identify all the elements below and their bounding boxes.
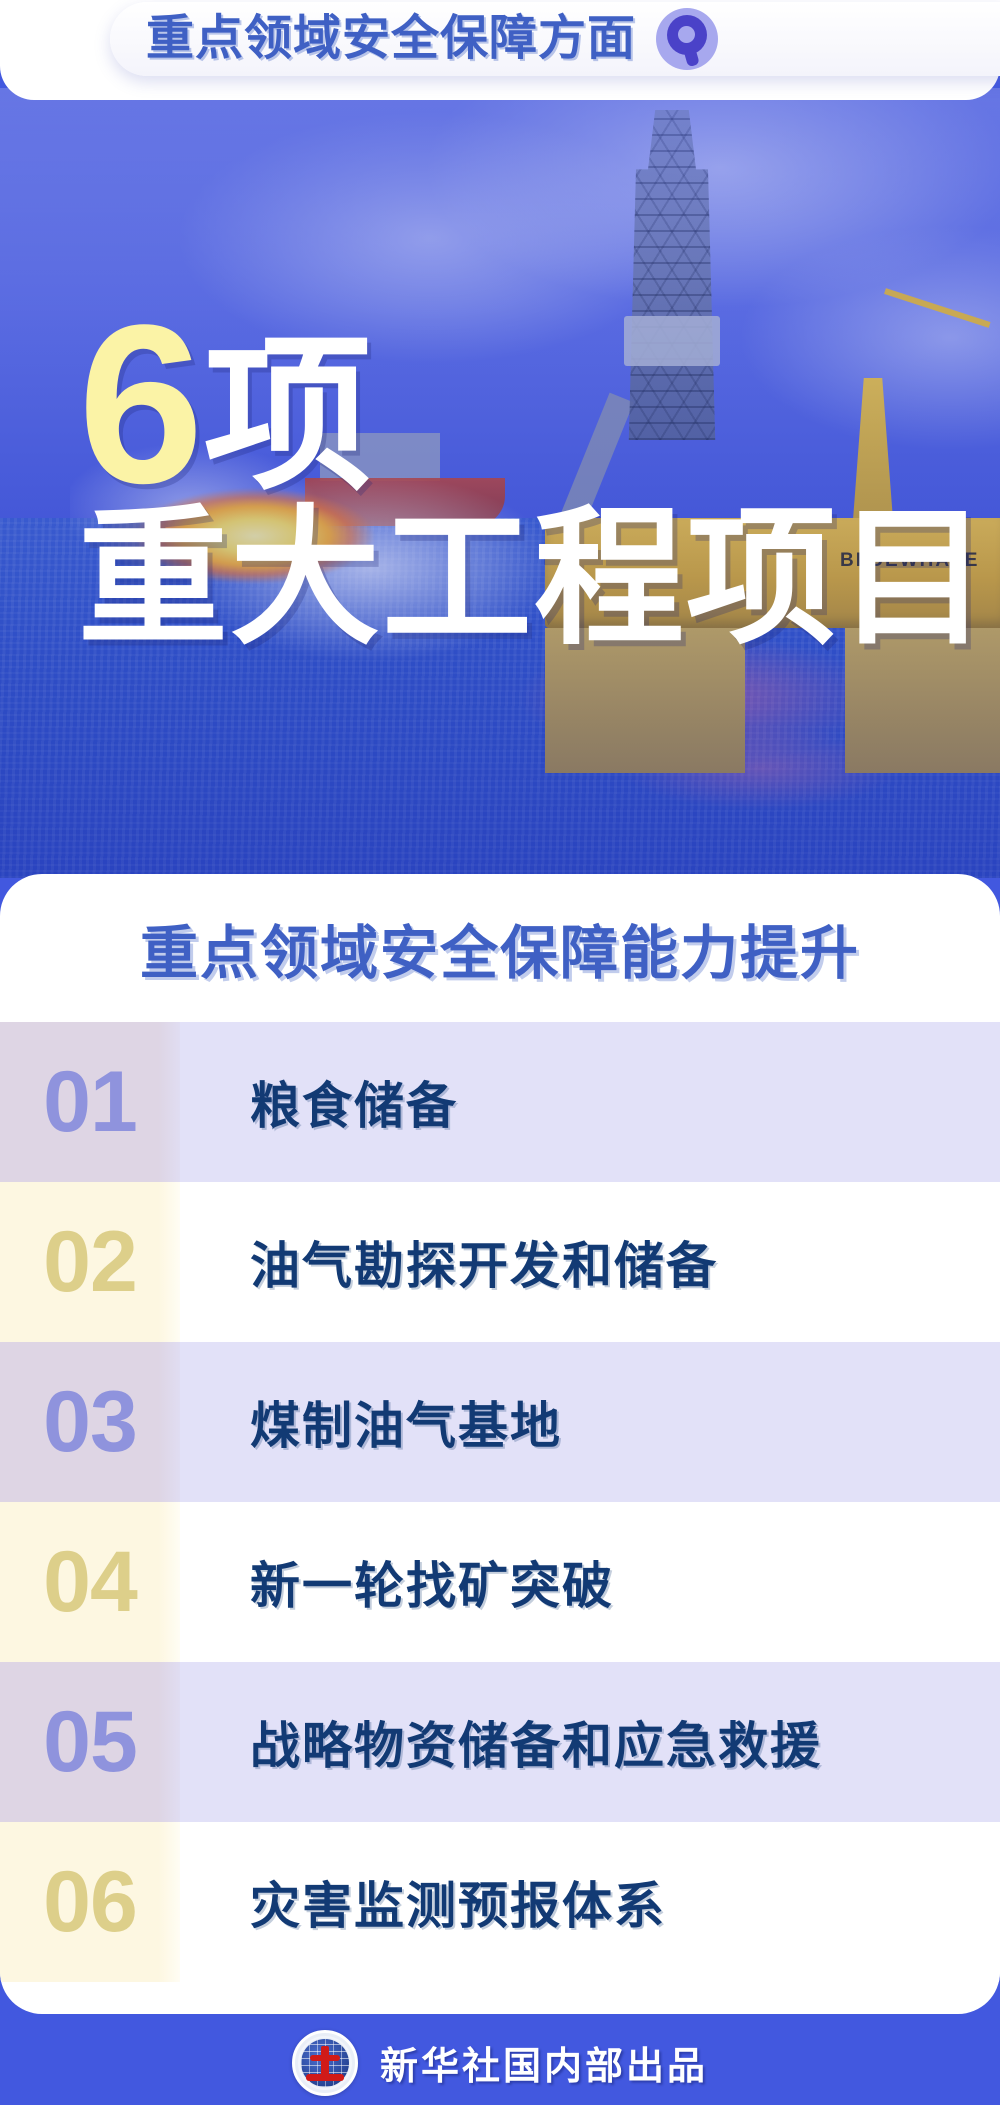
list-item-label: 煤制油气基地 (180, 1342, 1000, 1502)
list-rows: 01 粮食储备 02 油气勘探开发和储备 03 煤制油气基地 04 新一轮找矿突… (0, 1022, 1000, 1982)
seal-ring (298, 2036, 352, 2090)
top-bar: 重点领域安全保障方面 (0, 0, 1000, 100)
section-badge-title: 重点领域安全保障方面 (146, 15, 636, 63)
list-item[interactable]: 03 煤制油气基地 (0, 1342, 1000, 1502)
hero-headline-line2: 重大工程项目 (78, 502, 990, 655)
list-item[interactable]: 01 粮食储备 (0, 1022, 1000, 1182)
hero-count-unit: 项 (204, 339, 372, 494)
list-item[interactable]: 05 战略物资储备和应急救援 (0, 1662, 1000, 1822)
section-badge[interactable]: 重点领域安全保障方面 (110, 2, 1000, 76)
list-card: 重点领域安全保障能力提升 01 粮食储备 02 油气勘探开发和储备 03 煤制油… (0, 874, 1000, 2014)
xinhua-seal-logo-icon (292, 2030, 358, 2096)
list-item[interactable]: 04 新一轮找矿突破 (0, 1502, 1000, 1662)
card-title: 重点领域安全保障能力提升 (0, 874, 1000, 1022)
poster-root: BLUEWHALE 6 项 重大工程项目 重点领域安全保障方面 重点领域安全保障… (0, 0, 1000, 2105)
list-item-number: 06 (0, 1822, 180, 1982)
list-item-label: 粮食储备 (180, 1022, 1000, 1182)
hero-headline-line1: 6 项 (78, 300, 990, 508)
hero-count-number: 6 (78, 300, 198, 508)
list-item-number: 05 (0, 1662, 180, 1822)
list-item-label: 新一轮找矿突破 (180, 1502, 1000, 1662)
list-item-label: 油气勘探开发和储备 (180, 1182, 1000, 1342)
list-item-number: 02 (0, 1182, 180, 1342)
list-item[interactable]: 02 油气勘探开发和储备 (0, 1182, 1000, 1342)
list-item-number: 01 (0, 1022, 180, 1182)
list-item[interactable]: 06 灾害监测预报体系 (0, 1822, 1000, 1982)
list-item-number: 04 (0, 1502, 180, 1662)
magnifier-icon (656, 8, 718, 70)
list-item-label: 战略物资储备和应急救援 (180, 1662, 1000, 1822)
list-item-number: 03 (0, 1342, 180, 1502)
footer: 新华社国内部出品 (0, 2020, 1000, 2105)
hero-headline: 6 项 重大工程项目 (78, 300, 990, 655)
footer-credit: 新华社国内部出品 (380, 2035, 708, 2090)
magnifier-lens-inner (678, 26, 695, 43)
list-item-label: 灾害监测预报体系 (180, 1822, 1000, 1982)
